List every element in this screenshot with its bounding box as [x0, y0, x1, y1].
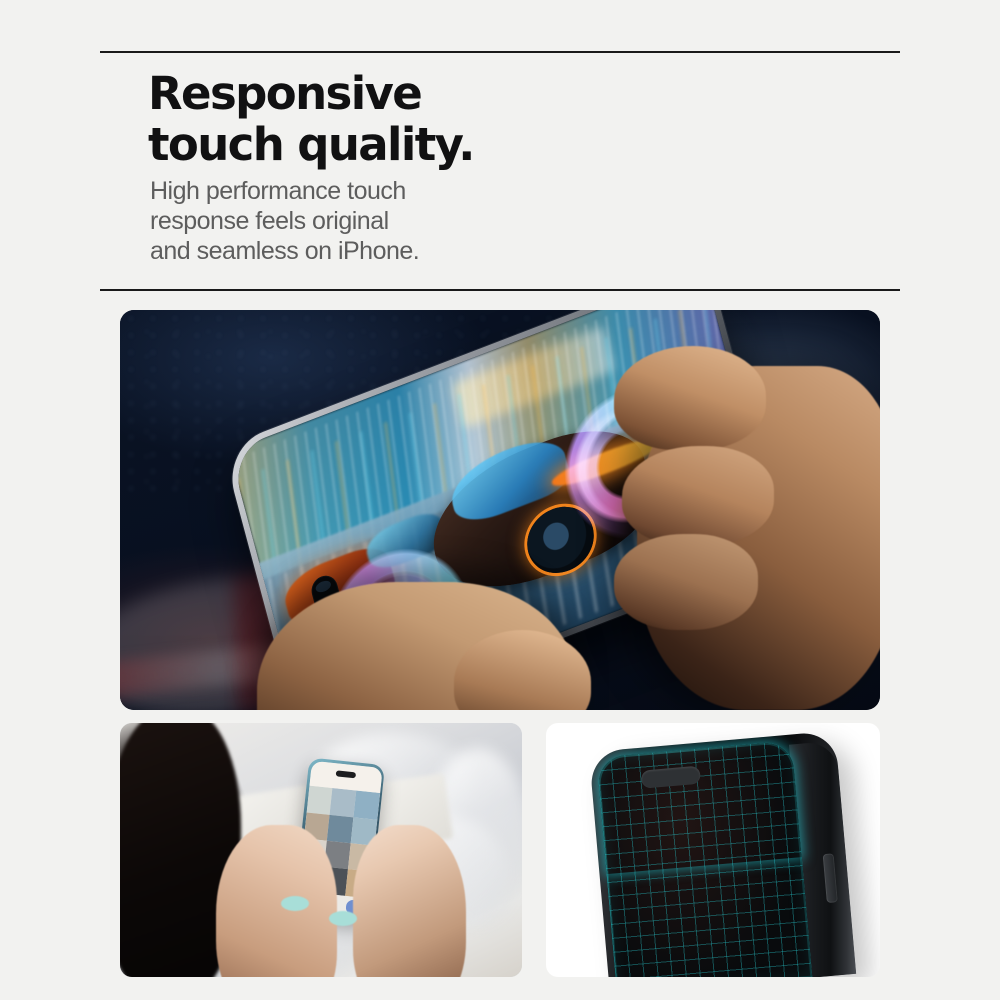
photo-thumb — [306, 786, 332, 815]
photo-scrolling-card — [120, 723, 522, 977]
divider-bottom — [100, 289, 900, 291]
headline-line-1: Responsive — [148, 67, 421, 120]
headline-line-2: touch quality. — [148, 118, 474, 171]
protector-device — [589, 730, 856, 977]
subhead-line-1: High performance touch — [150, 177, 406, 205]
right-ring-finger — [614, 534, 758, 630]
left-hand — [216, 825, 337, 977]
touch-sensor-grid — [597, 740, 812, 977]
subhead-line-3: and seamless on iPhone. — [150, 237, 419, 265]
right-index-finger — [614, 346, 766, 450]
right-hand — [353, 825, 466, 977]
iphone-frame — [589, 730, 856, 977]
subhead-line-2: response feels original — [150, 207, 389, 235]
gaming-hands-hero-image — [120, 310, 880, 710]
page-subtitle: High performance touch response feels or… — [150, 176, 419, 266]
photo-thumb — [327, 815, 353, 844]
volume-button — [823, 853, 839, 903]
fingernail — [281, 896, 309, 911]
dynamic-island — [336, 770, 357, 778]
screen-protector-closeup-card — [546, 723, 880, 977]
page-title: Responsive touch quality. — [148, 68, 474, 170]
intro-text-block: Responsive touch quality. High performan… — [100, 51, 900, 53]
photo-thumb — [353, 791, 379, 820]
protector-screen — [597, 740, 812, 977]
right-middle-finger — [622, 446, 774, 546]
photo-thumb — [330, 789, 356, 818]
divider-top — [100, 51, 900, 53]
